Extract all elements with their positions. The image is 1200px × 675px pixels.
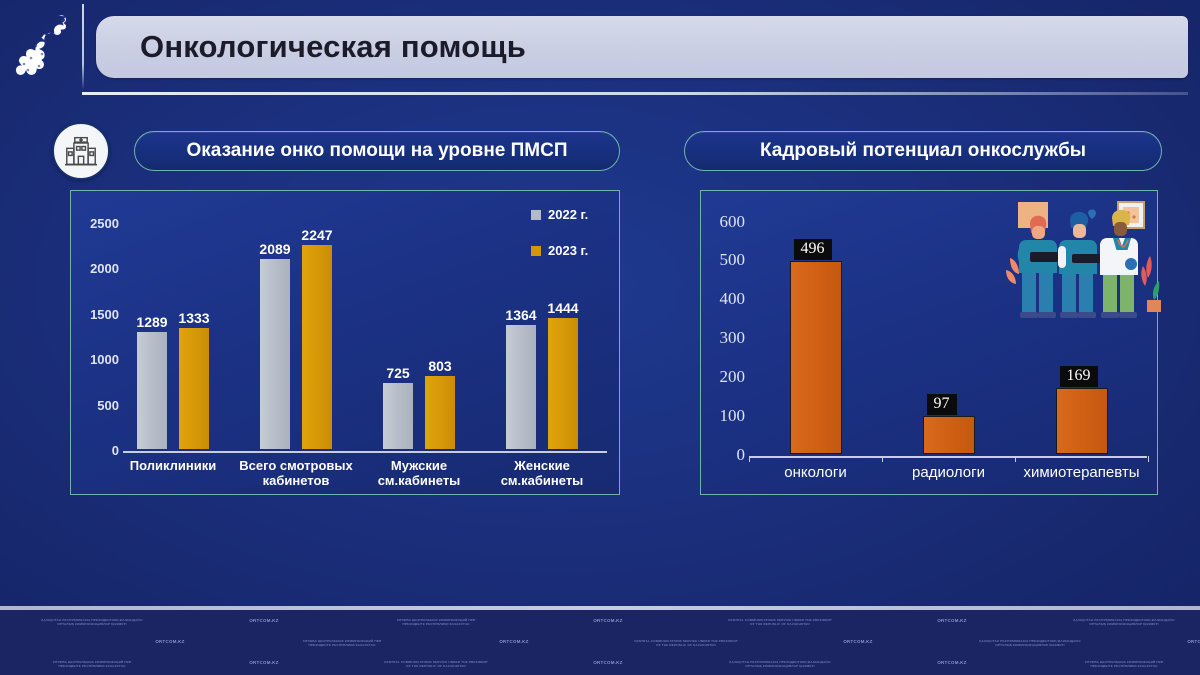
y-axis-tick-pmsp: 1500 — [79, 307, 119, 322]
bar-staff — [923, 416, 975, 454]
bar-staff — [1056, 388, 1108, 454]
footer-watermark-text: ORTCOM.KZ — [180, 660, 348, 666]
footer-watermark-text: СЛУЖБА ЦЕНТРАЛЬНЫХ КОММУНИКАЦИЙ ПРИПРЕЗИ… — [1040, 660, 1200, 669]
footer-watermark-text: CENTRAL COMMUNICATIONS SERVICE UNDER THE… — [696, 618, 864, 627]
y-axis-tick-staff: 600 — [707, 212, 745, 232]
x-axis-category-pmsp: Всего смотровыхкабинетов — [228, 459, 364, 489]
x-axis-tick-staff — [882, 456, 883, 462]
footer-watermark-text: CENTRAL COMMUNICATIONS SERVICE UNDER THE… — [602, 639, 770, 648]
x-axis-category-pmsp: Мужскиесм.кабинеты — [351, 459, 487, 489]
footer-watermark-text: СЛУЖБА ЦЕНТРАЛЬНЫХ КОММУНИКАЦИЙ ПРИПРЕЗИ… — [352, 618, 520, 627]
header-rule — [82, 92, 1188, 95]
footer-watermark-text: ORTCOM.KZ — [1118, 639, 1200, 645]
panel-title-staff: Кадровый потенциал онкослужбы — [684, 131, 1162, 171]
bar-pmsp — [302, 245, 332, 449]
panel-title-pmsp: Оказание онко помощи на уровне ПМСП — [134, 131, 620, 171]
x-axis-line-staff — [749, 456, 1147, 458]
bar-value-pmsp: 1333 — [171, 310, 217, 326]
bar-value-pmsp: 1289 — [129, 314, 175, 330]
x-axis-category-pmsp: Поликлиники — [105, 459, 241, 474]
legend-swatch-icon — [531, 246, 541, 256]
footer-watermark-text: ORTCOM.KZ — [430, 639, 598, 645]
slide-title-pill: Онкологическая помощь — [96, 16, 1188, 78]
y-axis-tick-staff: 400 — [707, 289, 745, 309]
footer-watermark-text: ORTCOM.KZ — [868, 660, 1036, 666]
bar-pmsp — [179, 328, 209, 449]
bar-value-staff: 496 — [794, 239, 832, 260]
bar-value-pmsp: 2247 — [294, 227, 340, 243]
bar-pmsp — [506, 325, 536, 449]
y-axis-tick-staff: 0 — [707, 445, 745, 465]
page-title: Онкологическая помощь — [140, 29, 526, 65]
x-axis-tick-staff — [1148, 456, 1149, 462]
footer-watermark-text: ҚАЗАҚСТАН РЕСПУБЛИКАСЫ ПРЕЗИДЕНТІНІҢ ЖАН… — [1040, 618, 1200, 627]
bar-pmsp — [260, 259, 290, 449]
footer-watermark-text: ҚАЗАҚСТАН РЕСПУБЛИКАСЫ ПРЕЗИДЕНТІНІҢ ЖАН… — [946, 639, 1114, 648]
footer-watermark-text: СЛУЖБА ЦЕНТРАЛЬНЫХ КОММУНИКАЦИЙ ПРИПРЕЗИ… — [258, 639, 426, 648]
panel-title-pmsp-label: Оказание онко помощи на уровне ПМСП — [186, 140, 567, 162]
y-axis-tick-staff: 300 — [707, 328, 745, 348]
x-axis-category-staff: радиологи — [879, 464, 1019, 481]
bar-pmsp — [383, 383, 413, 449]
footer-watermark-text: ORTCOM.KZ — [86, 639, 254, 645]
slide-header: Онкологическая помощь — [0, 0, 1200, 100]
y-axis-tick-staff: 100 — [707, 406, 745, 426]
bar-value-pmsp: 725 — [375, 365, 421, 381]
y-axis-tick-staff: 500 — [707, 250, 745, 270]
bar-value-staff: 169 — [1060, 366, 1098, 387]
chart-pmsp: 0500100015002000250012891333Поликлиники2… — [70, 190, 620, 495]
y-axis-tick-pmsp: 500 — [79, 398, 119, 413]
bar-value-staff: 97 — [927, 394, 957, 415]
legend-item-pmsp[interactable]: 2022 г. — [531, 207, 588, 222]
footer-watermark-text: ORTCOM.KZ — [180, 618, 348, 624]
medical-staff-illustration-icon — [1000, 196, 1166, 324]
footer-watermark-text: ORTCOM.KZ — [774, 639, 942, 645]
footer-watermark-text: ҚАЗАҚСТАН РЕСПУБЛИКАСЫ ПРЕЗИДЕНТІНІҢ ЖАН… — [696, 660, 864, 669]
footer-watermark-text: ҚАЗАҚСТАН РЕСПУБЛИКАСЫ ПРЕЗИДЕНТІНІҢ ЖАН… — [8, 618, 176, 627]
bar-pmsp — [425, 376, 455, 449]
bar-value-pmsp: 1364 — [498, 307, 544, 323]
footer-watermark-text: СЛУЖБА ЦЕНТРАЛЬНЫХ КОММУНИКАЦИЙ ПРИПРЕЗИ… — [8, 660, 176, 669]
legend-label: 2023 г. — [548, 243, 588, 258]
y-axis-tick-pmsp: 2000 — [79, 261, 119, 276]
footer-watermark-strip: ҚАЗАҚСТАН РЕСПУБЛИКАСЫ ПРЕЗИДЕНТІНІҢ ЖАН… — [0, 610, 1200, 675]
footer-watermark-text: CENTRAL COMMUNICATIONS SERVICE UNDER THE… — [352, 660, 520, 669]
bar-pmsp — [137, 332, 167, 449]
x-axis-category-pmsp: Женскиесм.кабинеты — [474, 459, 610, 489]
bar-value-pmsp: 1444 — [540, 300, 586, 316]
x-axis-line-pmsp — [123, 451, 607, 453]
legend-label: 2022 г. — [548, 207, 588, 222]
panel-title-staff-label: Кадровый потенциал онкослужбы — [760, 140, 1086, 162]
x-axis-category-staff: химиотерапевты — [1012, 464, 1152, 481]
footer-watermark-text: ORTCOM.KZ — [868, 618, 1036, 624]
y-axis-tick-staff: 200 — [707, 367, 745, 387]
snow-leopard-emblem-icon — [14, 6, 76, 90]
slide-root: Онкологическая помощь — [0, 0, 1200, 675]
x-axis-tick-staff — [749, 456, 750, 462]
bar-value-pmsp: 803 — [417, 358, 463, 374]
footer-watermark-text: ORTCOM.KZ — [524, 660, 692, 666]
legend-item-pmsp[interactable]: 2023 г. — [531, 243, 588, 258]
bar-staff — [790, 261, 842, 454]
y-axis-tick-pmsp: 0 — [79, 443, 119, 458]
footer-watermark-text: ORTCOM.KZ — [524, 618, 692, 624]
x-axis-tick-staff — [1015, 456, 1016, 462]
bar-value-pmsp: 2089 — [252, 241, 298, 257]
header-divider — [82, 4, 84, 90]
x-axis-category-staff: онкологи — [746, 464, 886, 481]
y-axis-tick-pmsp: 2500 — [79, 216, 119, 231]
y-axis-tick-pmsp: 1000 — [79, 352, 119, 367]
hospital-icon — [52, 122, 110, 180]
legend-swatch-icon — [531, 210, 541, 220]
bar-pmsp — [548, 318, 578, 449]
